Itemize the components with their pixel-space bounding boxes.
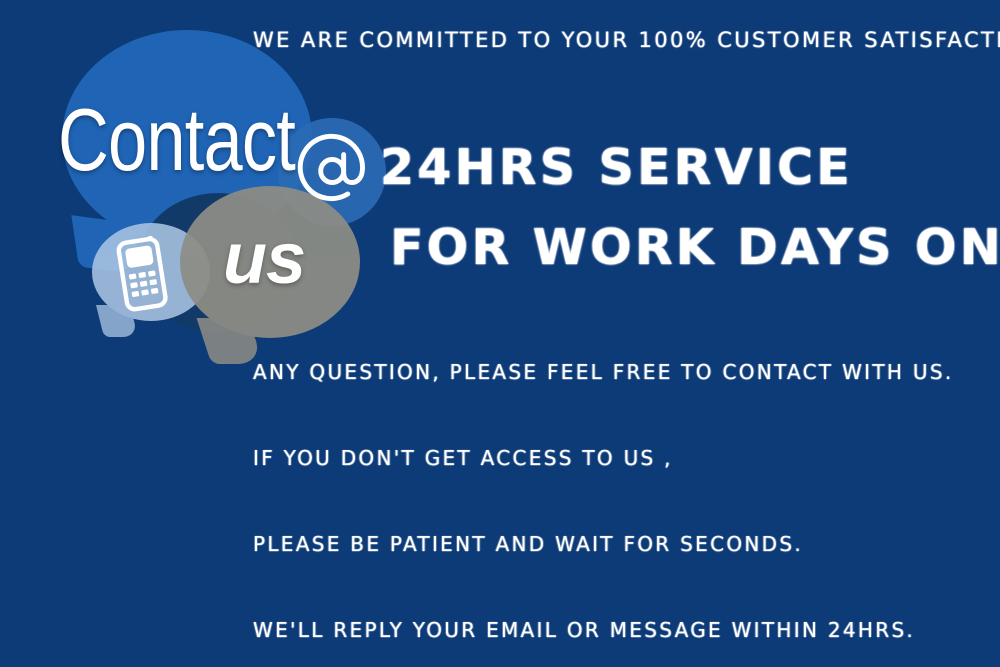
logo-word-contact: Contact — [58, 96, 295, 184]
contact-us-logo: Contact us — [40, 18, 390, 348]
headline-line-2: FOR WORK DAYS ONLY — [380, 208, 980, 288]
body-text-block: ANY QUESTION, PLEASE FEEL FREE TO CONTAC… — [253, 360, 983, 642]
mobile-phone-icon — [114, 236, 172, 312]
body-line-3: PLEASE BE PATIENT AND WAIT FOR SECONDS. — [253, 532, 983, 556]
body-line-1: ANY QUESTION, PLEASE FEEL FREE TO CONTAC… — [253, 360, 983, 384]
tagline-text: WE ARE COMMITTED TO YOUR 100% CUSTOMER S… — [253, 28, 1000, 52]
body-line-4: WE'LL REPLY YOUR EMAIL OR MESSAGE WITHIN… — [253, 618, 983, 642]
headline-line-1: 24HRS SERVICE — [380, 128, 980, 208]
at-sign-icon — [292, 130, 374, 212]
contact-us-banner: Contact us — [0, 0, 1000, 667]
logo-word-us: us — [223, 223, 305, 295]
body-line-2: IF YOU DON'T GET ACCESS TO US , — [253, 446, 983, 470]
headline-block: 24HRS SERVICE FOR WORK DAYS ONLY — [380, 128, 980, 288]
